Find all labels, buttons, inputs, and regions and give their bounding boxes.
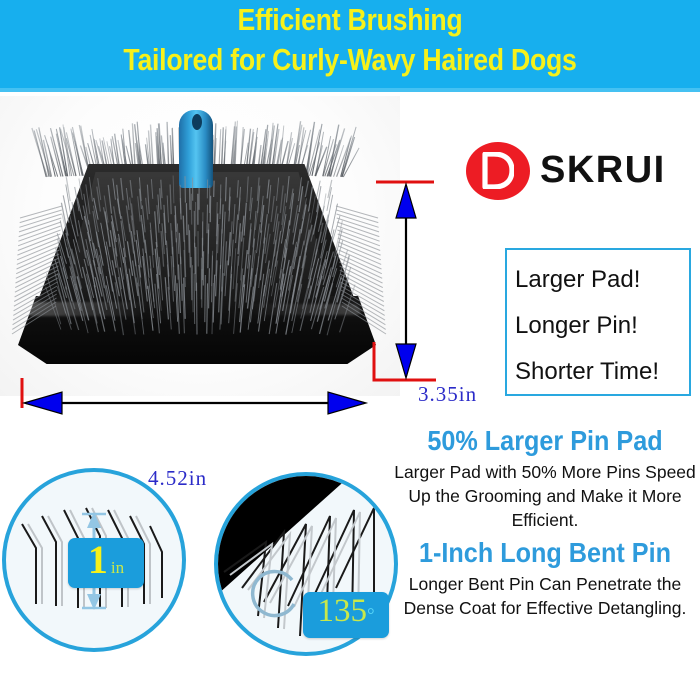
badge-pin-length: 1 in bbox=[68, 538, 144, 588]
badge-pin-length-unit: in bbox=[111, 558, 124, 578]
feature-2-title: 1-Inch Long Bent Pin bbox=[407, 536, 682, 569]
infographic-root: Efficient Brushing Tailored for Curly-Wa… bbox=[0, 0, 700, 700]
badge-pin-length-value: 1 bbox=[88, 538, 108, 582]
brand-name: SKRUI bbox=[540, 148, 666, 192]
logo-d-icon bbox=[480, 152, 514, 189]
feature-box-line-3: Shorter Time! bbox=[515, 349, 689, 395]
badge-pin-angle-value: 135 bbox=[317, 592, 367, 630]
badge-pin-angle-unit: ° bbox=[367, 605, 375, 627]
height-dimension-label: 3.35in bbox=[418, 382, 477, 407]
feature-2-body: Longer Bent Pin Can Penetrate the Dense … bbox=[392, 572, 698, 620]
header-title-line2: Tailored for Curly-Wavy Haired Dogs bbox=[49, 42, 651, 78]
brand-logo: SKRUI bbox=[466, 140, 696, 210]
dimension-annotations: 3.35in 4.52in bbox=[0, 90, 440, 430]
badge-pin-angle: 135 ° bbox=[303, 592, 389, 638]
feature-highlight-box: Larger Pad! Longer Pin! Shorter Time! bbox=[505, 248, 691, 396]
dimension-lines bbox=[0, 90, 440, 430]
feature-box-line-1: Larger Pad! bbox=[515, 257, 689, 303]
feature-1-body: Larger Pad with 50% More Pins Speed Up t… bbox=[392, 460, 698, 532]
feature-text-column: 50% Larger Pin Pad Larger Pad with 50% M… bbox=[392, 424, 698, 672]
feature-1-title: 50% Larger Pin Pad bbox=[407, 424, 682, 457]
feature-box-line-2: Longer Pin! bbox=[515, 303, 689, 349]
header-banner: Efficient Brushing Tailored for Curly-Wa… bbox=[0, 0, 700, 92]
header-title-line1: Efficient Brushing bbox=[49, 2, 651, 38]
